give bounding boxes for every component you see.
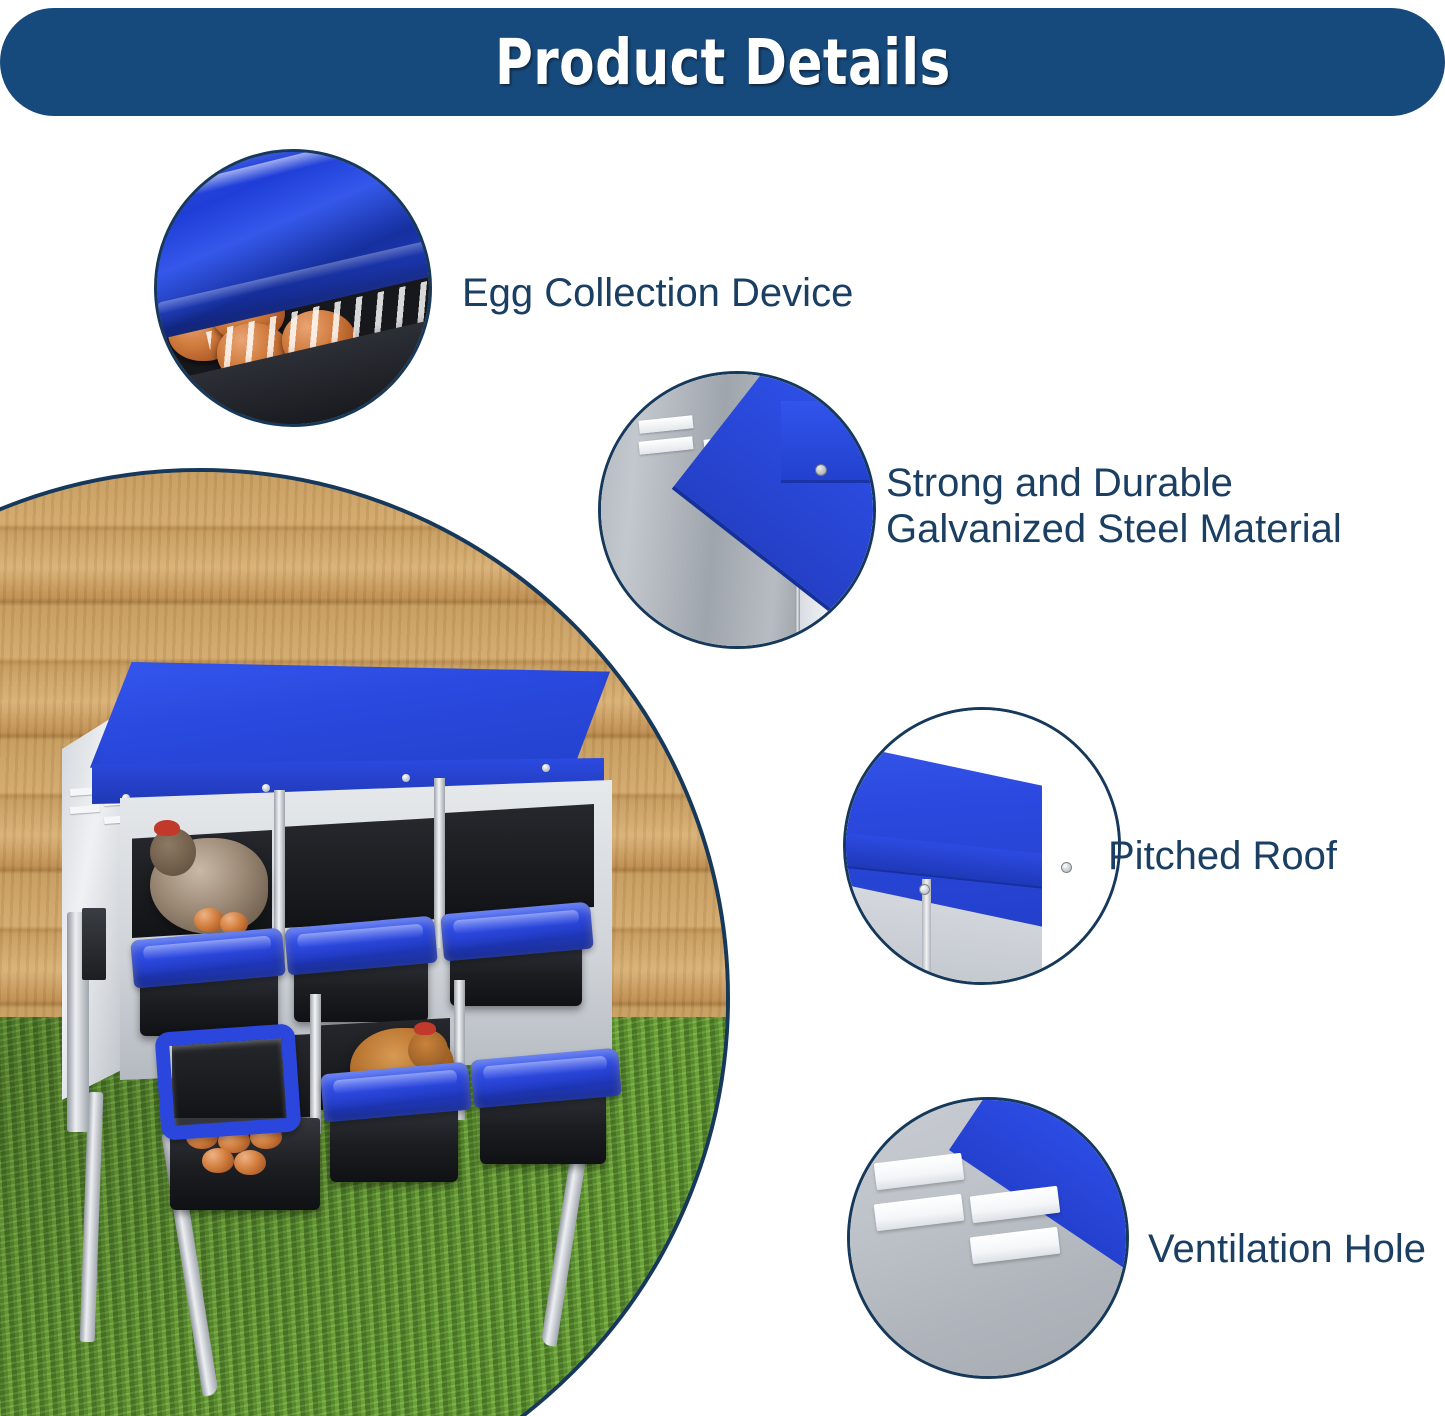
screw-icon: [815, 464, 827, 476]
ventilation-slots-circle-icon: [847, 1097, 1129, 1379]
callout-label-galvanized-steel: Strong and Durable Galvanized Steel Mate…: [886, 460, 1342, 553]
tray-lip: [333, 1069, 458, 1094]
roof-rivet: [402, 774, 410, 782]
compartment-opening: [284, 818, 434, 928]
pitched-roof-circle-icon: [843, 707, 1121, 985]
galvanized-panel-circle-icon: [598, 371, 876, 649]
tray-lip: [297, 923, 424, 948]
roof-rivet: [542, 764, 550, 772]
chicken-comb: [154, 820, 180, 836]
page-header-banner: Product Details: [0, 8, 1445, 116]
lid-rib: [154, 149, 432, 213]
side-latch: [82, 908, 106, 980]
ventilation-slot: [70, 805, 100, 814]
product-details-infographic: Product Details: [0, 0, 1445, 1416]
blue-roof-corner: [781, 401, 876, 483]
egg-tray-circle-icon: [154, 149, 432, 427]
roof-rivet: [262, 784, 270, 792]
compartment-divider: [310, 994, 321, 1134]
callout-label-pitched-roof: Pitched Roof: [1108, 833, 1337, 879]
tray-lip: [483, 1055, 608, 1080]
nesting-box-product: [62, 662, 662, 1362]
tray-lip: [143, 935, 271, 960]
egg: [202, 1148, 234, 1173]
compartment-opening: [444, 804, 594, 916]
tray-handle[interactable]: [154, 1023, 301, 1141]
egg: [234, 1150, 266, 1175]
callout-label-ventilation-hole: Ventilation Hole: [1148, 1226, 1426, 1272]
chicken-comb: [414, 1022, 436, 1035]
tray-lip: [453, 909, 580, 934]
callout-label-egg-collection: Egg Collection Device: [462, 270, 853, 316]
page-title: Product Details: [495, 26, 951, 99]
